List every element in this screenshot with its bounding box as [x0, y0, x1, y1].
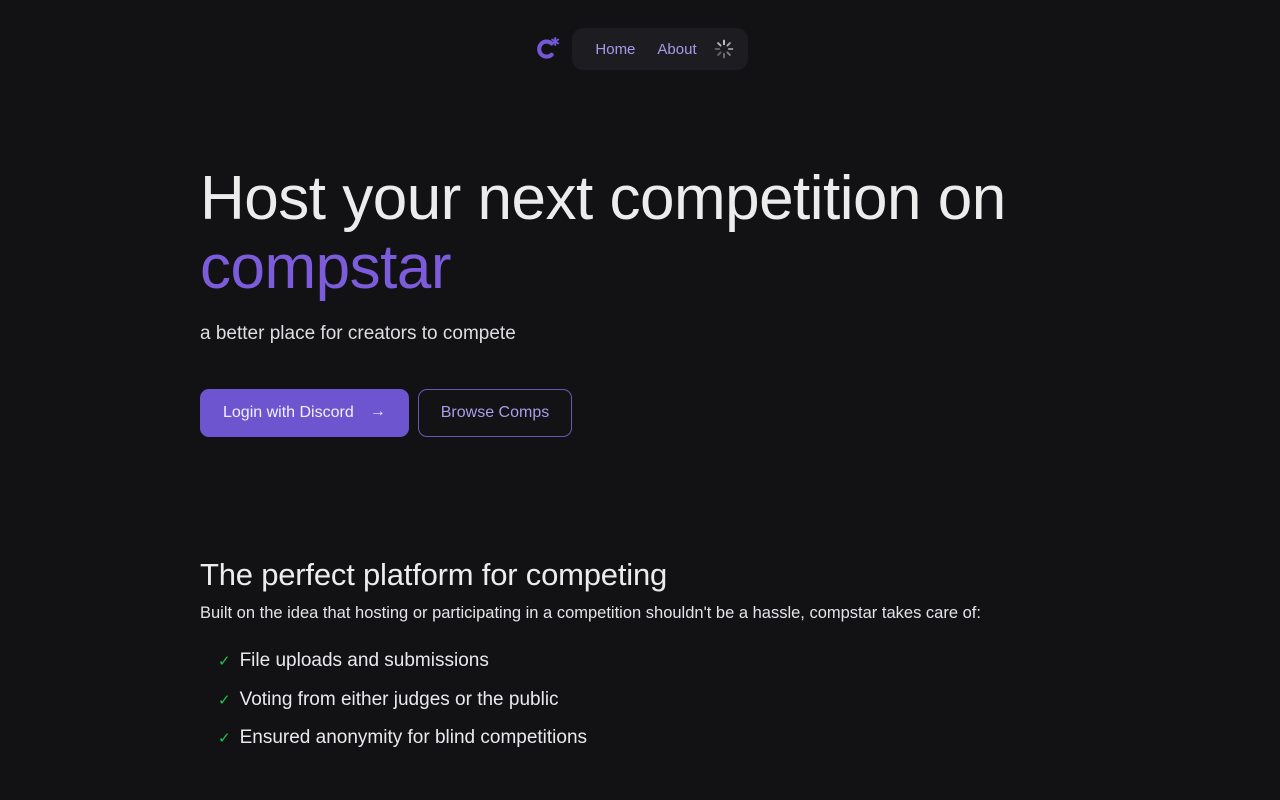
loading-spinner-icon — [714, 39, 734, 59]
feature-list: ✓ File uploads and submissions ✓ Voting … — [200, 650, 1160, 750]
arrow-right-icon: → — [370, 404, 386, 420]
browse-comps-button[interactable]: Browse Comps — [418, 389, 572, 437]
hero-section: Host your next competition on compstar a… — [200, 168, 1100, 437]
hero-title-brand: compstar — [200, 237, 1100, 299]
hero-subtitle: a better place for creators to compete — [200, 322, 1100, 347]
features-section: The perfect platform for competing Built… — [200, 558, 1160, 766]
nav-link-home[interactable]: Home — [584, 35, 646, 64]
list-item-label: Voting from either judges or the public — [240, 689, 559, 711]
hero-title-line1: Host your next competition on — [200, 164, 1006, 233]
list-item: ✓ Voting from either judges or the publi… — [218, 689, 1160, 711]
nav-link-about[interactable]: About — [646, 35, 707, 64]
top-navbar: Home About — [0, 0, 1280, 100]
nav-pill: Home About — [572, 28, 747, 70]
features-description: Built on the idea that hosting or partic… — [200, 603, 1160, 624]
list-item-label: Ensured anonymity for blind competitions — [240, 727, 587, 749]
browse-comps-label: Browse Comps — [441, 405, 549, 421]
features-heading: The perfect platform for competing — [200, 558, 1160, 592]
nav-cluster: Home About — [532, 28, 747, 70]
check-icon: ✓ — [218, 731, 231, 746]
list-item: ✓ Ensured anonymity for blind competitio… — [218, 727, 1160, 749]
list-item: ✓ File uploads and submissions — [218, 650, 1160, 672]
page-title: Host your next competition on compstar — [200, 168, 1100, 299]
login-with-discord-label: Login with Discord — [223, 405, 354, 421]
hero-actions: Login with Discord → Browse Comps — [200, 389, 1100, 437]
check-icon: ✓ — [218, 693, 231, 708]
login-with-discord-button[interactable]: Login with Discord → — [200, 389, 409, 437]
compstar-logo-icon[interactable] — [532, 34, 562, 64]
check-icon: ✓ — [218, 654, 231, 669]
list-item-label: File uploads and submissions — [240, 650, 489, 672]
